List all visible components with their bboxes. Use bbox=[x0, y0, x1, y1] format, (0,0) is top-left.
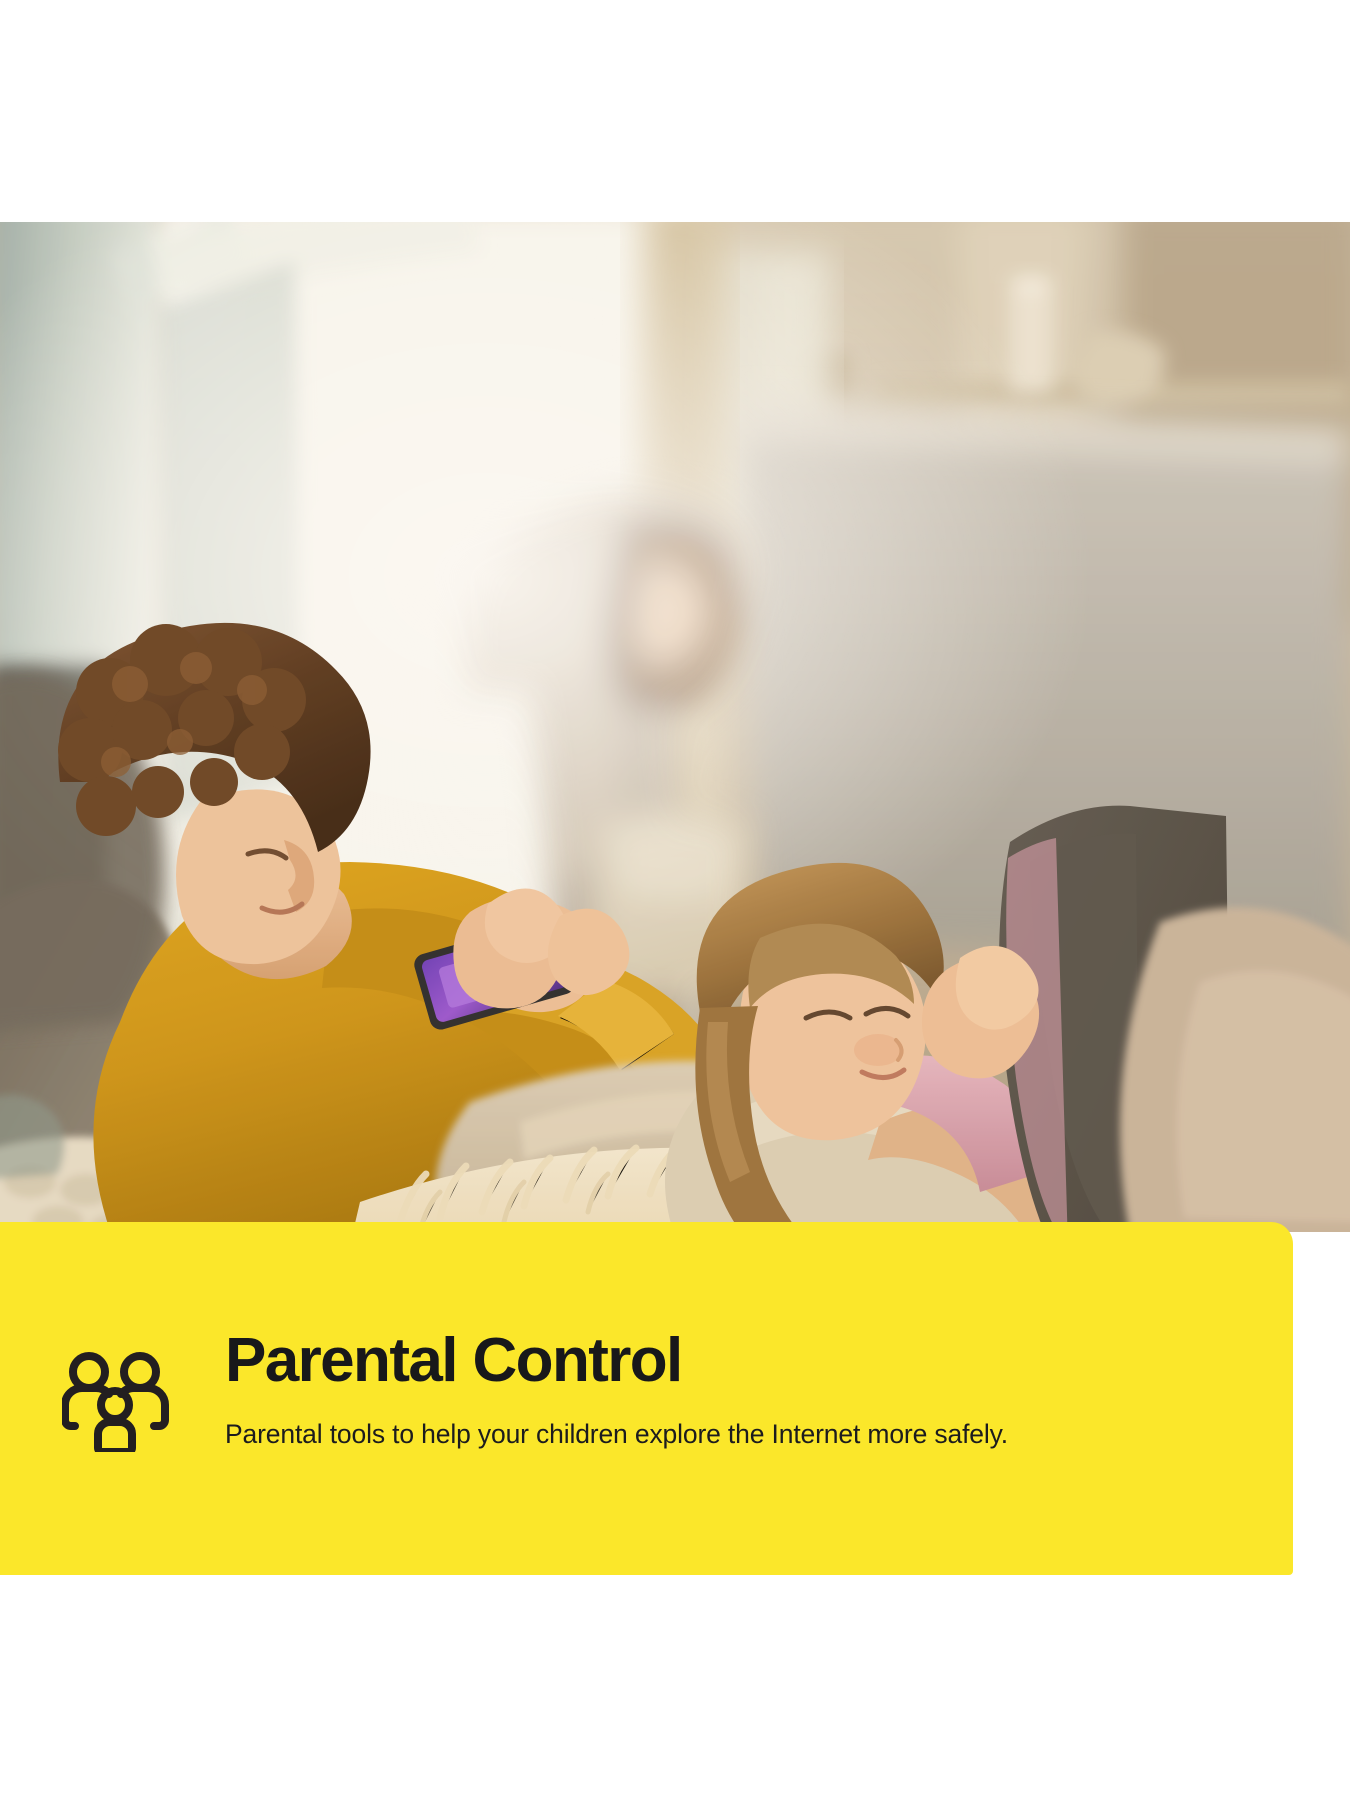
page-root: Parental Control Parental tools to help … bbox=[0, 0, 1350, 1800]
hero-photo-illustration bbox=[0, 222, 1350, 1232]
parental-control-card: Parental Control Parental tools to help … bbox=[0, 1222, 1293, 1575]
page-title: Parental Control bbox=[225, 1330, 1233, 1392]
page-subtitle: Parental tools to help your children exp… bbox=[225, 1417, 1233, 1453]
hero-photo bbox=[0, 222, 1350, 1232]
promo-text: Parental Control Parental tools to help … bbox=[225, 1330, 1233, 1453]
family-icon bbox=[62, 1352, 180, 1452]
promo-inner: Parental Control Parental tools to help … bbox=[62, 1330, 1233, 1453]
